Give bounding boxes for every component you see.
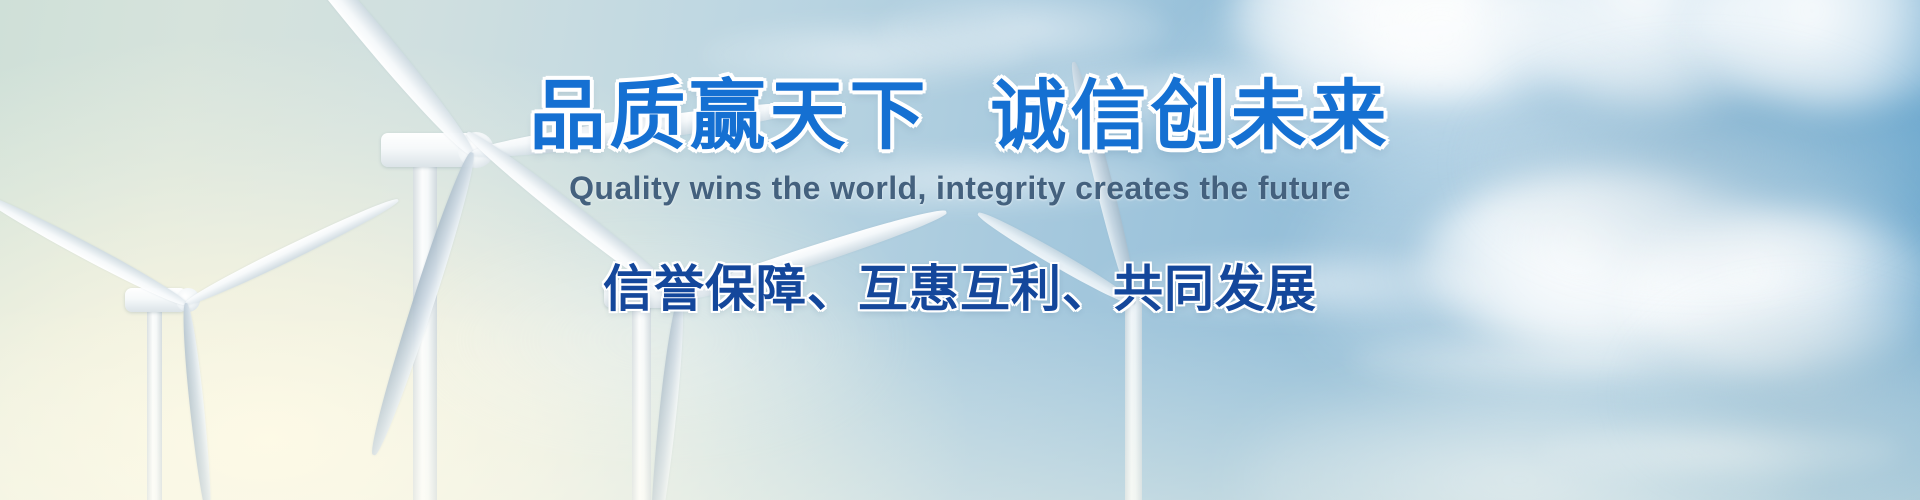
turbine-blade-icon — [461, 125, 686, 307]
turbine-blade-icon — [179, 302, 215, 500]
turbine-blade-icon — [0, 189, 190, 311]
turbine-blade-icon — [645, 297, 688, 500]
wind-turbine-group — [0, 0, 1920, 500]
turbine-mast-icon — [632, 295, 651, 500]
turbine-blade-icon — [677, 203, 949, 308]
turbine-blade-icon — [470, 94, 815, 165]
promo-banner: 品质赢天下 诚信创未来 Quality wins the world, inte… — [0, 0, 1920, 500]
turbine-mast-icon — [1125, 290, 1142, 500]
turbine-mast-icon — [147, 300, 162, 500]
turbine-blade-icon — [183, 193, 402, 310]
